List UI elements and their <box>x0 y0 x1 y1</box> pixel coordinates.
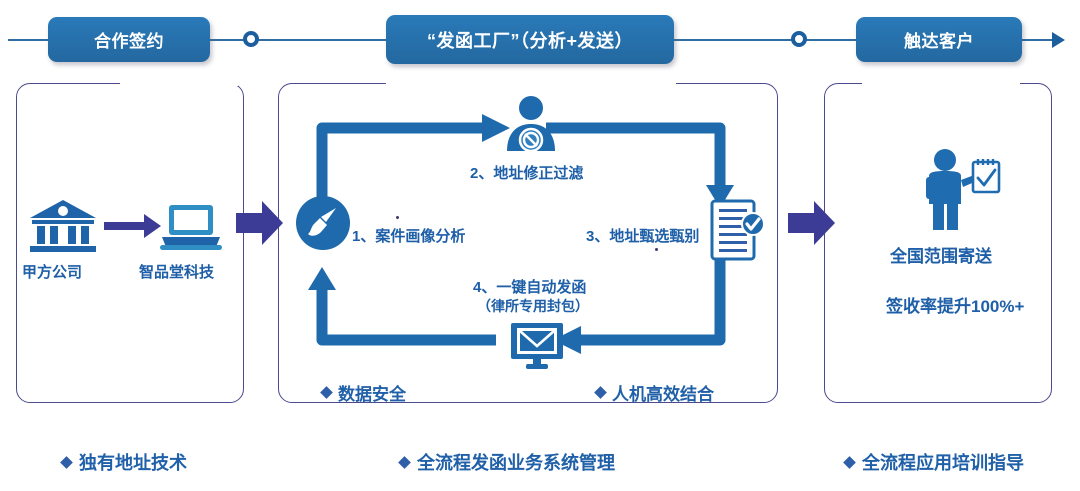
step-3-label: 3、地址甄选甄别 <box>586 225 699 246</box>
bottom-feature-center-label: 全流程发函业务系统管理 <box>417 449 615 475</box>
deco-dot-2 <box>655 248 658 251</box>
timeline-node-2 <box>791 31 807 47</box>
step-4-label: 4、一键自动发函 <box>473 276 586 297</box>
timeline-stage-3[interactable]: 触达客户 <box>856 17 1022 62</box>
vendor-label: 智品堂科技 <box>139 261 214 282</box>
timeline-stage-2-label: “发函工厂”（分析+发送） <box>427 27 633 53</box>
timeline-segment-1 <box>208 39 388 41</box>
bottom-feature-right-label: 全流程应用培训指导 <box>862 449 1024 475</box>
person-blocked-icon <box>504 95 558 151</box>
right-line-1: 全国范围寄送 <box>890 242 992 267</box>
party-a-label: 甲方公司 <box>22 261 82 282</box>
bottom-feature-left-label: 独有地址技术 <box>79 449 187 475</box>
bottom-feature-center: 全流程发函业务系统管理 <box>400 449 615 475</box>
frame-right-top-gap <box>862 80 1020 86</box>
timeline-stage-1[interactable]: 合作签约 <box>48 17 210 62</box>
section-arrow-center-to-right-icon <box>788 200 836 251</box>
center-feature-2-label: 人机高效结合 <box>612 380 714 405</box>
step-4-sublabel: （律所专用封包） <box>477 296 589 316</box>
flow-diagram-canvas: 合作签约 “发函工厂”（分析+发送） 触达客户 甲方公司 <box>0 0 1080 491</box>
laptop-icon <box>160 203 222 251</box>
diamond-bullet-icon <box>398 456 411 469</box>
diamond-bullet-icon <box>320 386 333 399</box>
timeline-segment-2 <box>672 39 858 41</box>
section-arrow-left-to-center-icon <box>236 200 284 251</box>
frame-left-top-gap <box>120 80 238 86</box>
monitor-envelope-icon <box>509 322 565 370</box>
timeline-node-1 <box>243 31 259 47</box>
step-1-label: 1、案件画像分析 <box>352 225 465 246</box>
bank-icon <box>28 198 98 254</box>
timeline-stage-3-label: 触达客户 <box>904 27 974 52</box>
delivery-person-clipboard-icon <box>915 148 1001 232</box>
bottom-feature-left: 独有地址技术 <box>62 449 187 475</box>
center-feature-2: 人机高效结合 <box>596 380 714 405</box>
timeline-stage-1-label: 合作签约 <box>94 27 164 52</box>
right-line-2: 签收率提升100%+ <box>886 292 1024 317</box>
deco-dot-1 <box>396 216 399 219</box>
document-check-icon <box>710 199 766 261</box>
frame-center-top-gap <box>386 80 676 86</box>
diamond-bullet-icon <box>60 456 73 469</box>
bottom-feature-right: 全流程应用培训指导 <box>845 449 1024 475</box>
timeline-stage-2[interactable]: “发函工厂”（分析+发送） <box>386 15 674 64</box>
paintbrush-circle-icon <box>296 196 350 250</box>
left-connector-arrow-icon <box>104 213 162 244</box>
center-feature-1: 数据安全 <box>322 380 406 405</box>
timeline-end-arrow-icon <box>1052 32 1065 48</box>
diamond-bullet-icon <box>594 386 607 399</box>
center-feature-1-label: 数据安全 <box>338 380 406 405</box>
diamond-bullet-icon <box>843 456 856 469</box>
step-2-label: 2、地址修正过滤 <box>470 162 583 183</box>
timeline-segment-right <box>1020 39 1052 41</box>
